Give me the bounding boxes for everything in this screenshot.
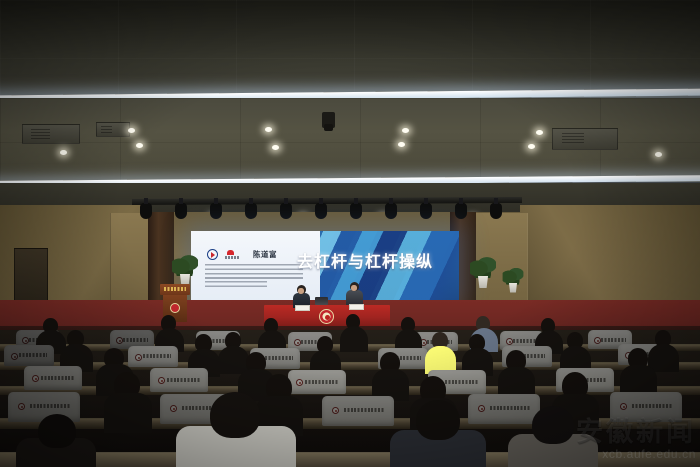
- downlight-4: [272, 145, 279, 150]
- seat-r3-2: [150, 368, 208, 392]
- table-emblem-icon: [319, 309, 334, 324]
- podium-gold-text: [164, 287, 186, 291]
- name-card-left: [295, 305, 310, 311]
- university-emblem-icon: [170, 303, 180, 313]
- name-card-right: [349, 304, 364, 310]
- seat-r4-5: [610, 392, 682, 422]
- seat-r4-3: [322, 396, 394, 426]
- downlight-3: [265, 127, 272, 132]
- slide-title-text: 去杠杆与杠杆操纵: [297, 248, 433, 272]
- ceiling-projector-icon: [322, 112, 335, 128]
- slide-affiliation-lines: [205, 264, 303, 280]
- university-seal-icon: [207, 249, 218, 260]
- potted-plant-right: [470, 254, 496, 288]
- ac-vent-center-left: [96, 122, 130, 137]
- ac-vent-right: [552, 128, 618, 150]
- seat-r2-1: [4, 345, 54, 366]
- downlight-6: [402, 128, 409, 133]
- slide-speaker-name: 陈道富: [253, 249, 277, 260]
- stage-light-9: [420, 203, 432, 219]
- stage-light-11: [490, 203, 502, 219]
- seat-r4-4: [468, 394, 540, 424]
- stage-light-1: [140, 203, 152, 219]
- stage-light-2: [175, 203, 187, 219]
- downlight-2: [136, 143, 143, 148]
- led-display-screen: 陈道富 去杠杆与杠杆操纵: [191, 231, 459, 301]
- slide-affiliation-lines-2: [205, 281, 267, 288]
- potted-plant-left: [172, 252, 198, 286]
- stage-light-8: [385, 203, 397, 219]
- stage-light-5: [280, 203, 292, 219]
- downlight-9: [655, 152, 662, 157]
- downlight-7: [528, 144, 535, 149]
- potted-plant-right-2: [503, 265, 524, 292]
- downlight-8: [536, 130, 543, 135]
- stage-light-10: [455, 203, 467, 219]
- lecture-hall-photo: 陈道富 去杠杆与杠杆操纵: [0, 0, 700, 467]
- downlight-10: [60, 150, 67, 155]
- stage-light-7: [350, 203, 362, 219]
- stage-light-6: [315, 203, 327, 219]
- institute-logo-icon: [225, 250, 239, 259]
- podium-top: [160, 284, 190, 295]
- seat-r2-2: [128, 346, 178, 367]
- seat-r3-1: [24, 366, 82, 390]
- seat-r3-3: [288, 370, 346, 394]
- ac-vent-left: [22, 124, 80, 144]
- head-table: [264, 305, 390, 327]
- downlight-1: [128, 128, 135, 133]
- stage-light-3: [210, 203, 222, 219]
- laptop-on-table: [315, 297, 328, 305]
- downlight-5: [398, 142, 405, 147]
- stage-light-4: [245, 203, 257, 219]
